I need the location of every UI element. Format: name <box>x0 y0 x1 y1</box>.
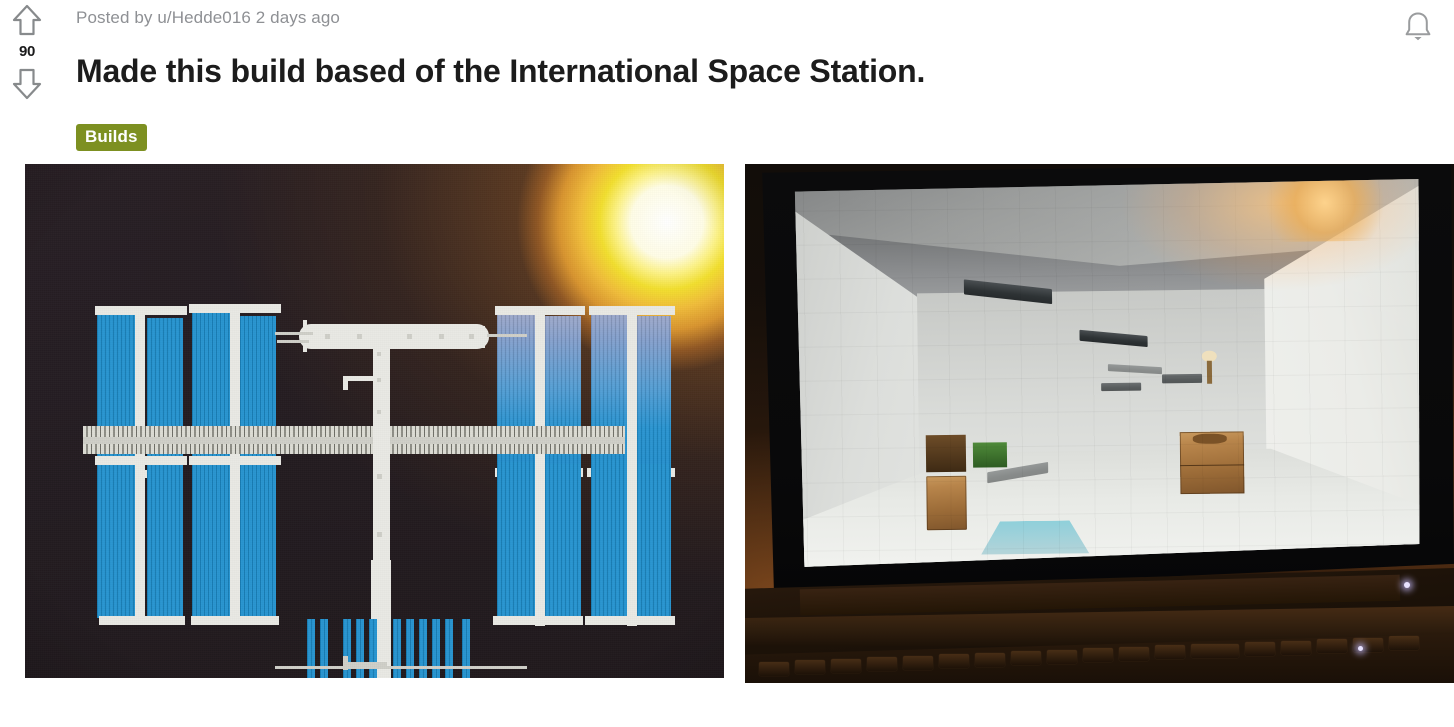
keyboard-key <box>1245 642 1275 656</box>
keyboard-key <box>903 656 933 670</box>
keyboard-key <box>1281 641 1311 655</box>
keyboard-key <box>1389 636 1419 650</box>
keyboard-key <box>975 653 1005 667</box>
keyboard-key <box>1317 639 1347 653</box>
keyboard-key <box>831 659 861 673</box>
keyboard-key <box>1047 650 1077 664</box>
laptop-screen <box>792 178 1424 571</box>
keyboard-key <box>1011 651 1041 665</box>
media-gallery <box>0 0 1454 727</box>
keyboard-key <box>1155 645 1185 659</box>
iss-minecraft-build-photo[interactable] <box>25 164 724 678</box>
keyboard-key <box>795 660 825 674</box>
laptop-minecraft-interior-photo[interactable] <box>745 164 1454 683</box>
photo-vignette-overlay <box>25 164 724 678</box>
keyboard-key <box>939 654 969 668</box>
keyboard-key <box>1083 648 1113 662</box>
screen-hotspot-glare <box>1255 178 1394 242</box>
keyboard-key <box>867 657 897 671</box>
reddit-post: 90 Posted by u/Hedde016 2 days ago Made … <box>0 0 1454 727</box>
keyboard-key <box>1119 647 1149 661</box>
keyboard-key <box>759 662 789 676</box>
laptop-lid <box>758 164 1454 594</box>
power-led-indicator <box>1404 582 1410 588</box>
keyboard-led-indicator <box>1358 646 1363 651</box>
keyboard-key <box>1191 644 1239 658</box>
